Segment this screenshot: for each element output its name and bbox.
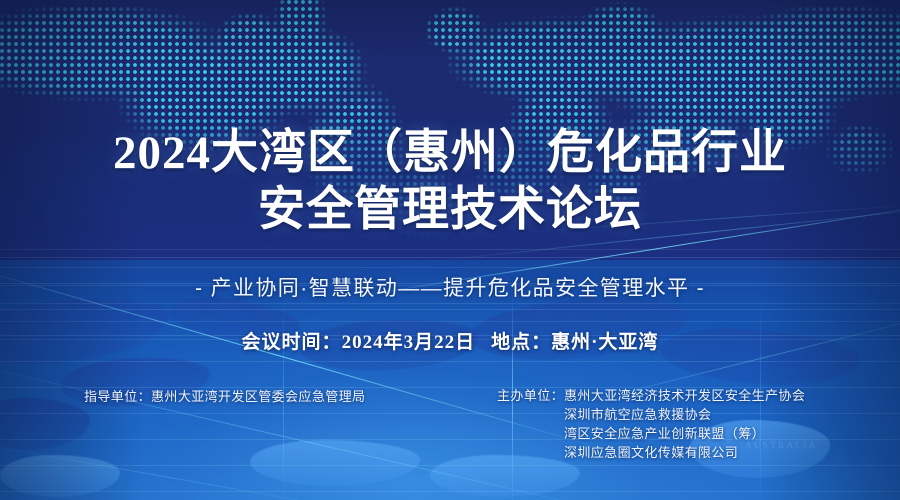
page-title-line-2: 安全管理技术论坛	[0, 185, 900, 236]
meeting-meta: 会议时间：2024年3月22日地点：惠州·大亚湾	[0, 327, 900, 354]
host-units: 主办单位：惠州大亚湾经济技术开发区安全生产协会 深圳市航空应急救援协会 湾区安全…	[497, 386, 805, 462]
host-label: 主办单位：	[497, 388, 564, 403]
guidance-unit-name: 惠州大亚湾开发区管委会应急管理局	[151, 389, 365, 404]
host-row: 深圳应急圈文化传媒有限公司	[497, 443, 805, 462]
host-row: 深圳市航空应急救援协会	[497, 405, 805, 424]
host-unit-name: 惠州大亚湾经济技术开发区安全生产协会	[564, 388, 805, 403]
host-unit-name: 深圳应急圈文化传媒有限公司	[564, 445, 738, 460]
host-row: 湾区安全应急产业创新联盟（筹）	[497, 424, 805, 443]
guidance-unit: 指导单位：惠州大亚湾开发区管委会应急管理局	[84, 386, 365, 405]
host-unit-name: 湾区安全应急产业创新联盟（筹）	[564, 426, 765, 441]
conference-banner: AUSTRALIA 2024大湾区（惠州）危化品行业 安全管理技术论坛 - 产业…	[0, 0, 900, 500]
guidance-label: 指导单位：	[84, 389, 151, 404]
meeting-time-label: 会议时间：	[242, 332, 342, 353]
host-unit-name: 深圳市航空应急救援协会	[564, 407, 711, 422]
banner-content: 2024大湾区（惠州）危化品行业 安全管理技术论坛 - 产业协同·智慧联动——提…	[0, 0, 900, 500]
title-block: 2024大湾区（惠州）危化品行业 安全管理技术论坛	[0, 128, 900, 236]
location-label: 地点：	[491, 332, 551, 353]
host-row: 主办单位：惠州大亚湾经济技术开发区安全生产协会	[497, 386, 805, 405]
meeting-time-value: 2024年3月22日	[342, 332, 476, 353]
page-title-line-1: 2024大湾区（惠州）危化品行业	[0, 128, 900, 179]
location-value: 惠州·大亚湾	[551, 332, 658, 353]
subtitle: - 产业协同·智慧联动——提升危化品安全管理水平 -	[0, 272, 900, 302]
